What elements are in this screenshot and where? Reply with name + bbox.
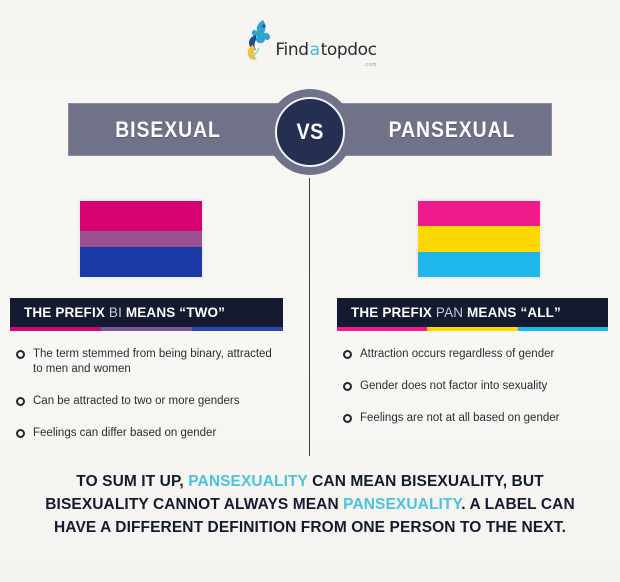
rule-segment-yellow	[427, 327, 517, 331]
flag-stripe-cyan	[418, 252, 540, 277]
bisexual-pride-flag	[80, 201, 202, 277]
summary-text-b: . A LABEL CAN	[461, 496, 575, 513]
pansexual-heading-rule	[337, 327, 608, 331]
summary-line-1: TO SUM IT UP, PANSEXUALITY CAN MEAN BISE…	[14, 470, 606, 493]
list-item: Feelings are not at all based on gender	[343, 411, 608, 426]
flag-stripe-magenta	[80, 201, 202, 231]
pansexual-pride-flag	[418, 201, 540, 277]
list-item: Can be attracted to two or more genders	[16, 394, 283, 409]
summary-text-a: TO SUM IT UP,	[76, 473, 188, 490]
list-item-text: Attraction occurs regardless of gender	[360, 347, 554, 362]
flag-stripe-blue	[80, 247, 202, 277]
column-divider	[309, 178, 310, 456]
bullet-dot-icon	[343, 350, 352, 359]
bisexual-heading-box: THE PREFIX BI MEANS “TWO”	[10, 298, 283, 327]
bottom-bar	[0, 560, 620, 582]
bullet-dot-icon	[343, 382, 352, 391]
banner-left-half: BISEXUAL	[69, 104, 267, 155]
banner-right-half: PANSEXUAL	[353, 104, 551, 155]
heading-prefix: THE PREFIX	[24, 305, 109, 320]
list-item: Gender does not factor into sexuality	[343, 379, 608, 394]
bisexual-column: THE PREFIX BI MEANS “TWO” The term stemm…	[10, 298, 283, 458]
list-item-text: Feelings can differ based on gender	[33, 426, 216, 441]
list-item-text: Feelings are not at all based on gender	[360, 411, 559, 426]
bisexual-heading-text: THE PREFIX BI MEANS “TWO”	[24, 305, 225, 320]
bullet-dot-icon	[16, 397, 25, 406]
summary-highlight: PANSEXUALITY	[343, 496, 461, 513]
bisexual-title: BISEXUAL	[115, 117, 221, 143]
flag-stripe-yellow	[418, 226, 540, 251]
logo-find-text: Find	[275, 40, 308, 60]
logo-inner: Findatopdoc .com	[243, 18, 376, 62]
pansexual-bullet-list: Attraction occurs regardless of gender G…	[337, 347, 608, 426]
list-item: Feelings can differ based on gender	[16, 426, 283, 441]
summary-text-a: BISEXUALITY CANNOT ALWAYS MEAN	[45, 496, 343, 513]
flag-stripe-purple	[80, 231, 202, 246]
heading-term: BI	[109, 305, 122, 320]
summary-line-2: BISEXUALITY CANNOT ALWAYS MEAN PANSEXUAL…	[14, 493, 606, 516]
infographic-page: Findatopdoc .com BISEXUAL PANSEXUAL VS T…	[0, 0, 620, 582]
bird-logo-icon	[243, 18, 273, 62]
summary-block: TO SUM IT UP, PANSEXUALITY CAN MEAN BISE…	[0, 470, 620, 539]
vs-label: VS	[296, 119, 323, 145]
bullet-dot-icon	[16, 429, 25, 438]
pansexual-heading-box: THE PREFIX PAN MEANS “ALL”	[337, 298, 608, 327]
list-item: Attraction occurs regardless of gender	[343, 347, 608, 362]
logo-wordmark: Findatopdoc .com	[275, 40, 376, 60]
heading-suffix: MEANS “ALL”	[463, 305, 561, 320]
list-item-text: Can be attracted to two or more genders	[33, 394, 239, 409]
bullet-dot-icon	[343, 414, 352, 423]
pansexual-column: THE PREFIX PAN MEANS “ALL” Attraction oc…	[337, 298, 608, 443]
summary-highlight: PANSEXUALITY	[188, 473, 307, 490]
list-item-text: The term stemmed from being binary, attr…	[33, 347, 283, 377]
list-item-text: Gender does not factor into sexuality	[360, 379, 547, 394]
rule-segment-magenta	[10, 327, 101, 331]
rule-segment-blue	[192, 327, 283, 331]
rule-segment-cyan	[518, 327, 608, 331]
heading-term: PAN	[436, 305, 463, 320]
pansexual-heading-text: THE PREFIX PAN MEANS “ALL”	[351, 305, 561, 320]
heading-suffix: MEANS “TWO”	[122, 305, 225, 320]
vs-badge: VS	[275, 97, 345, 167]
site-logo[interactable]: Findatopdoc .com	[0, 14, 620, 66]
summary-text-b: CAN MEAN BISEXUALITY, BUT	[308, 473, 544, 490]
bisexual-heading-rule	[10, 327, 283, 331]
heading-prefix: THE PREFIX	[351, 305, 436, 320]
pansexual-title: PANSEXUAL	[389, 117, 516, 143]
logo-a-text: a	[309, 40, 321, 60]
summary-line-3: HAVE A DIFFERENT DEFINITION FROM ONE PER…	[14, 516, 606, 539]
logo-topdoc-text: topdoc	[321, 40, 377, 60]
rule-segment-magenta	[337, 327, 427, 331]
bullet-dot-icon	[16, 350, 25, 359]
list-item: The term stemmed from being binary, attr…	[16, 347, 283, 377]
logo-domain-suffix: .com	[364, 62, 377, 68]
flag-stripe-magenta	[418, 201, 540, 226]
bisexual-bullet-list: The term stemmed from being binary, attr…	[10, 347, 283, 441]
rule-segment-purple	[101, 327, 192, 331]
